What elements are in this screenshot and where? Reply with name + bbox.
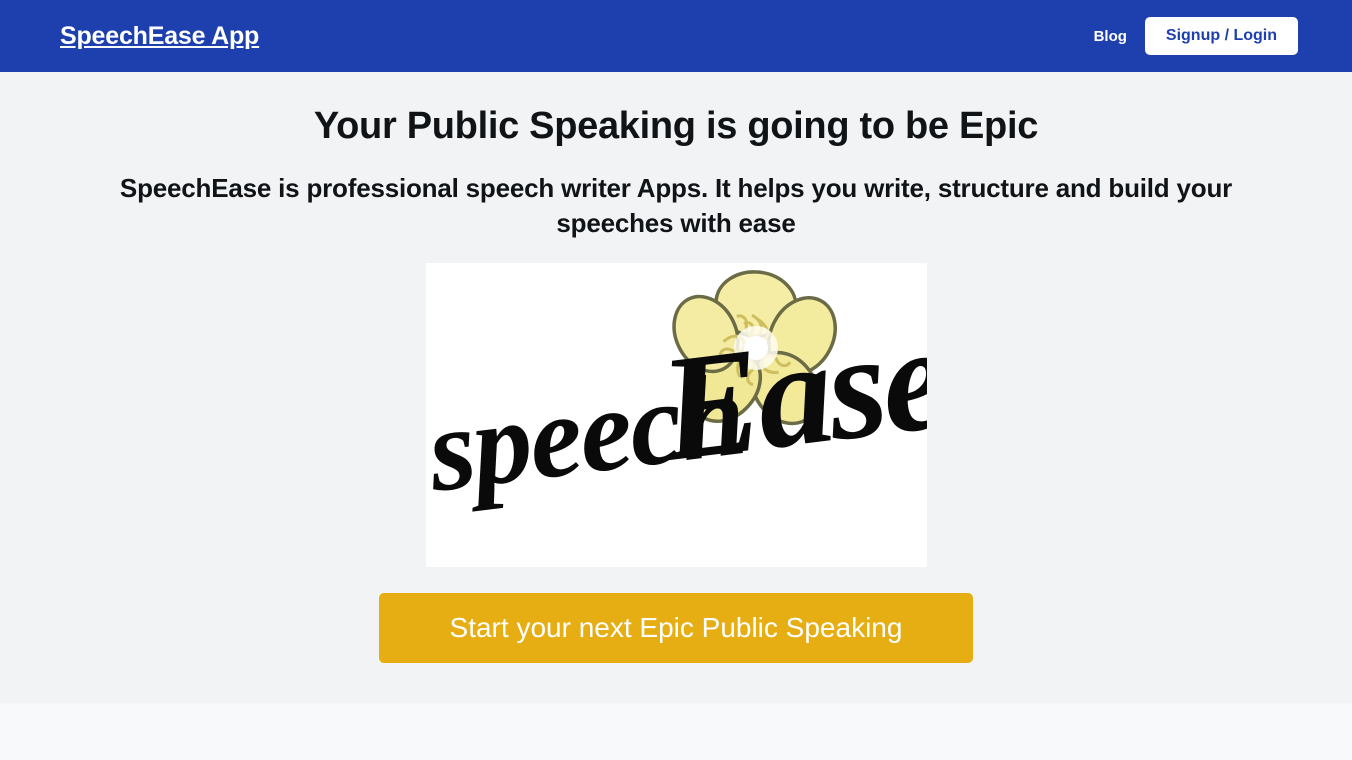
- page-subtitle: SpeechEase is professional speech writer…: [96, 171, 1256, 243]
- cta-container: Start your next Epic Public Speaking: [0, 593, 1352, 663]
- start-speaking-button[interactable]: Start your next Epic Public Speaking: [379, 593, 973, 663]
- speechease-logo-image: speech Ease: [426, 263, 927, 567]
- svg-text:Ease: Ease: [649, 294, 926, 494]
- hero-section: Your Public Speaking is going to be Epic…: [0, 72, 1352, 703]
- nav-link-blog[interactable]: Blog: [1092, 24, 1129, 49]
- site-header: SpeechEase App Blog Signup / Login: [0, 0, 1352, 72]
- page-lower-section: [0, 703, 1352, 760]
- page-title: Your Public Speaking is going to be Epic: [0, 103, 1352, 151]
- signup-login-button[interactable]: Signup / Login: [1145, 17, 1298, 55]
- primary-nav: Blog Signup / Login: [1092, 17, 1298, 55]
- brand-logo-link[interactable]: SpeechEase App: [60, 24, 259, 49]
